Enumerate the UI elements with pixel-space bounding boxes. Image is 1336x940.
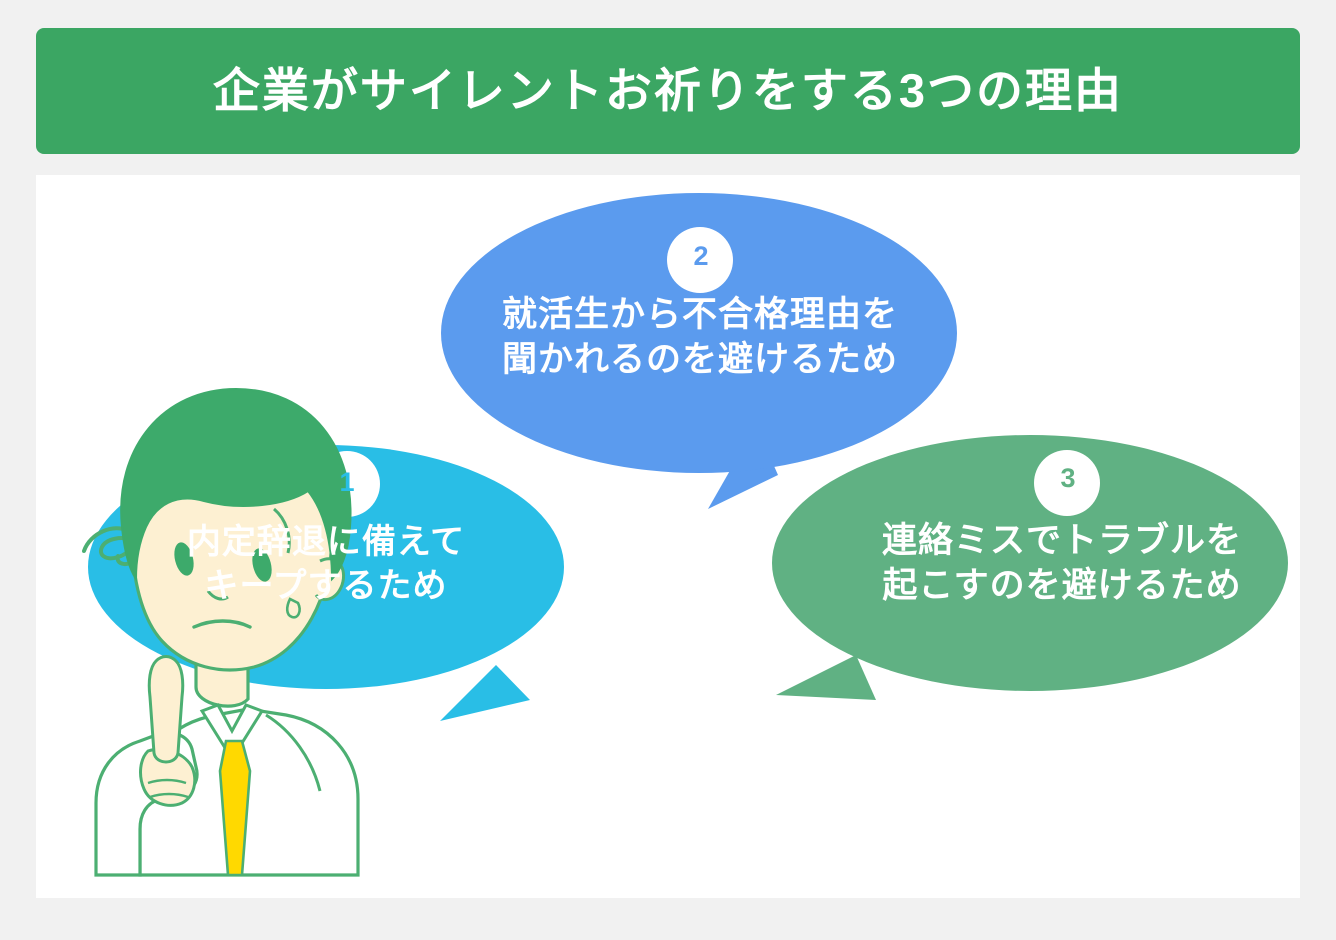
speech-bubble-3-tail: [776, 655, 876, 700]
page-title: 企業がサイレントお祈りをする3つの理由: [213, 65, 1123, 117]
speech-bubble-2-number-circle: [667, 227, 733, 293]
bubbles-and-illustration-canvas: [36, 175, 1300, 898]
content-card: 1 内定辞退に備えて キープするため 2 就活生から不合格理由を 聞かれるのを避…: [36, 175, 1300, 898]
header-banner: 企業がサイレントお祈りをする3つの理由: [36, 28, 1300, 154]
infographic-stage: 企業がサイレントお祈りをする3つの理由: [0, 0, 1336, 940]
speech-bubble-3[interactable]: [772, 435, 1288, 700]
speech-bubble-1-tail: [440, 665, 530, 721]
index-finger: [149, 657, 183, 763]
speech-bubble-3-body: [772, 435, 1288, 691]
speech-bubble-3-number-circle: [1034, 450, 1100, 516]
